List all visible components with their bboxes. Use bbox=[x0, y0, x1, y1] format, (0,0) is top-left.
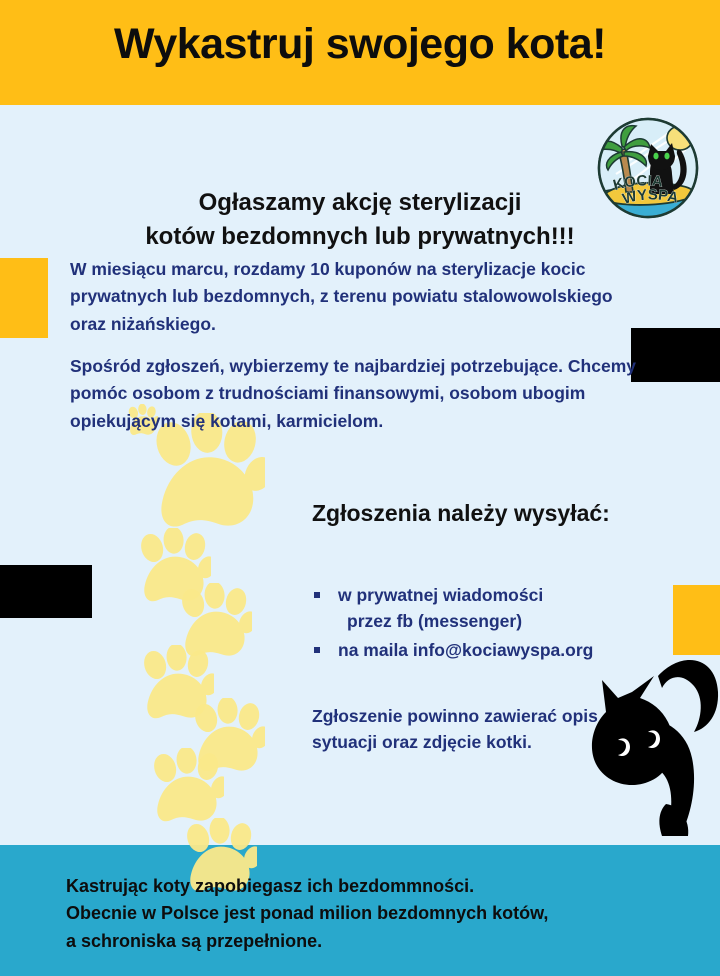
footer-line-1: Kastrując koty zapobiegasz ich bezdommno… bbox=[66, 873, 666, 900]
list-item-line-1: w prywatnej wiadomości bbox=[338, 585, 543, 605]
poster-canvas: Wykastruj swojego kota! bbox=[0, 0, 720, 976]
subheading-line-1: Ogłaszamy akcję sterylizacji bbox=[60, 186, 660, 220]
footer-message: Kastrując koty zapobiegasz ich bezdommno… bbox=[66, 873, 666, 955]
paragraph-selection: Spośród zgłoszeń, wybierzemy te najbardz… bbox=[70, 353, 640, 435]
decor-block-black-left bbox=[0, 565, 92, 618]
subheading: Ogłaszamy akcję sterylizacji kotów bezdo… bbox=[60, 186, 660, 254]
list-item-line-2: przez fb (messenger) bbox=[338, 608, 652, 634]
page-title: Wykastruj swojego kota! bbox=[0, 20, 720, 69]
list-item-line-1: na maila info@kociawyspa.org bbox=[338, 640, 593, 660]
bullet-square-icon bbox=[314, 647, 320, 653]
black-cat-silhouette-icon bbox=[562, 636, 720, 848]
footer-line-3: a schroniska są przepełnione. bbox=[66, 928, 666, 955]
paragraph-coupons: W miesiącu marcu, rozdamy 10 kuponów na … bbox=[70, 256, 630, 338]
send-heading: Zgłoszenia należy wysyłać: bbox=[312, 500, 610, 527]
bullet-square-icon bbox=[314, 592, 320, 598]
decor-block-black-right bbox=[631, 328, 720, 382]
list-item: w prywatnej wiadomości przez fb (messeng… bbox=[312, 582, 652, 635]
subheading-line-2: kotów bezdomnych lub prywatnych!!! bbox=[60, 220, 660, 254]
footer-line-2: Obecnie w Polsce jest ponad milion bezdo… bbox=[66, 900, 666, 927]
paw-print-icon bbox=[152, 748, 224, 828]
decor-block-yellow-left bbox=[0, 258, 48, 338]
